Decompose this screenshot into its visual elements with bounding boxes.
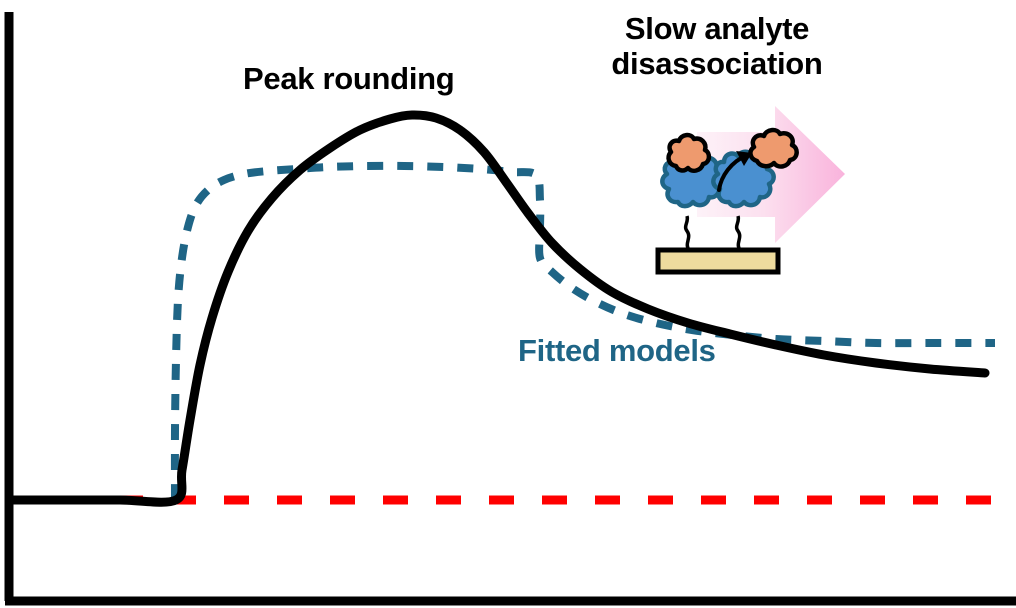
fitted-models-annotation: Fitted models xyxy=(518,334,716,369)
linker-tether-right xyxy=(737,216,740,250)
sensorgram-plot xyxy=(0,0,1016,608)
peak-rounding-annotation: Peak rounding xyxy=(243,62,454,97)
plot-axes xyxy=(5,12,1016,601)
sensor-surface-bar xyxy=(658,250,778,272)
slow-analyte-line-2: disassociation xyxy=(611,46,822,81)
slow-analyte-disassociation-annotation: Slow analytedisassociation xyxy=(572,12,862,81)
analyte-released xyxy=(750,130,796,166)
slow-analyte-line-1: Slow analyte xyxy=(625,11,809,46)
figure-root: Peak rounding Slow analytedisassociation… xyxy=(0,0,1016,608)
analyte-bound xyxy=(669,135,709,171)
analyte-disassociation-illustration xyxy=(658,106,845,272)
linker-tether-left xyxy=(686,216,689,250)
